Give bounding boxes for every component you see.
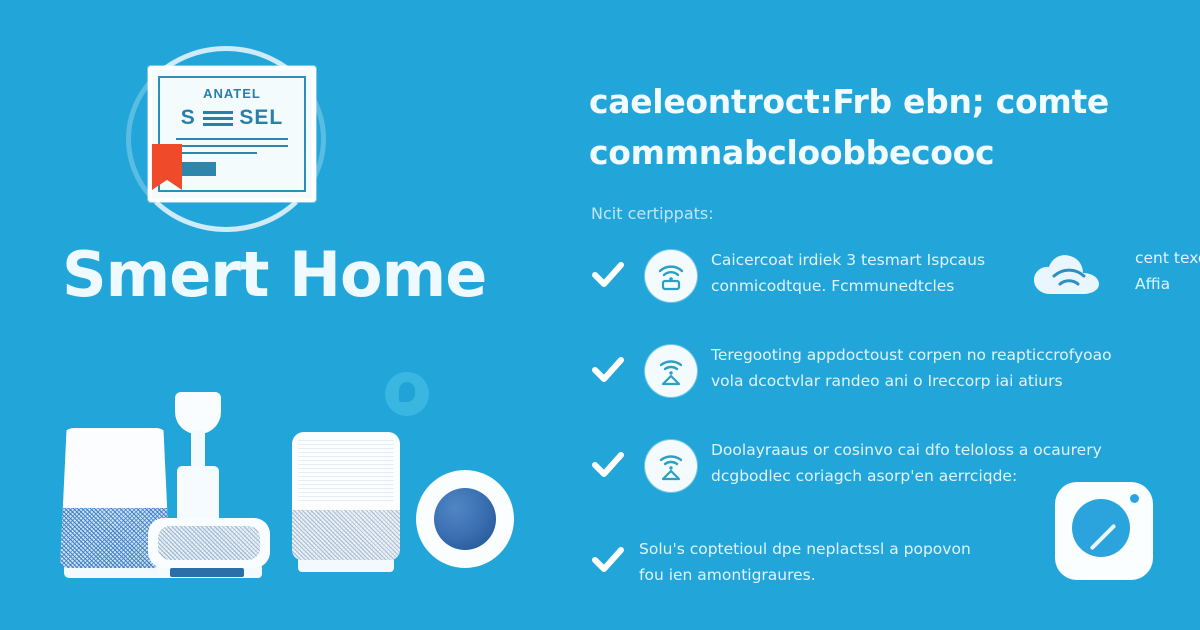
list-item-text: Solu's coptetioul dpe neplactssl a popov… — [639, 537, 1069, 588]
list-item-text-line-2: vola dcoctvlar randeo ani o Ireccorp iai… — [711, 369, 1131, 395]
smart-hub — [148, 518, 270, 568]
wifi-router-icon — [645, 250, 697, 302]
certificate-seal-chip — [178, 162, 216, 176]
square-speaker-mesh — [292, 510, 400, 560]
wifi-device-icon — [645, 440, 697, 492]
check-icon — [591, 258, 625, 292]
check-icon — [591, 353, 625, 387]
check-icon — [591, 448, 625, 482]
list-item-text-line-1: Teregooting appdoctoust corpen no reapti… — [711, 343, 1131, 369]
cloud-label-line-1: cent texots — [1135, 246, 1200, 272]
section-heading-line-1: caeleontroct:Frb ebn; comte — [589, 76, 1189, 127]
smart-lamp-neck — [191, 430, 205, 466]
list-item-text: Doolayraaus or cosinvo cai dfo teloloss … — [711, 438, 1131, 489]
certificate-code-left: S — [181, 106, 196, 129]
certificate-code: S SEL — [152, 106, 312, 130]
hub-mesh — [158, 526, 260, 560]
camera-icon — [1055, 482, 1153, 580]
anatel-certificate-badge: ANATEL S SEL — [118, 44, 338, 234]
certificate-code-right: SEL — [239, 106, 283, 129]
list-item-text: Teregooting appdoctoust corpen no reapti… — [711, 343, 1131, 394]
camera-flash-dot-icon — [1130, 494, 1139, 503]
round-camera-lens — [434, 488, 496, 550]
section-subheading: Ncit certippats: — [591, 204, 714, 223]
poster-canvas: ANATEL S SEL Smert Home — [0, 0, 1200, 630]
list-item: Teregooting appdoctoust corpen no reapti… — [583, 339, 1198, 434]
cloud-label: cent texots Affia — [1135, 246, 1200, 297]
list-item: Caicercoat irdiek 3 tesmart Ispcaus conm… — [583, 244, 1198, 339]
cloud-label-line-2: Affia — [1135, 272, 1200, 298]
certificate-bars-icon — [203, 108, 233, 129]
smart-hub-led — [170, 568, 244, 577]
square-speaker — [292, 432, 400, 560]
page-title: Smert Home — [62, 238, 532, 311]
check-icon — [591, 543, 625, 577]
list-item-text-line-1: Solu's coptetioul dpe neplactssl a popov… — [639, 537, 1069, 563]
cloud-wifi-icon — [1028, 250, 1128, 302]
camera-lens-icon — [1072, 499, 1130, 557]
certificate-text-lines — [176, 138, 288, 159]
left-column: ANATEL S SEL Smert Home — [0, 0, 540, 630]
list-item-text-line-1: Doolayraaus or cosinvo cai dfo teloloss … — [711, 438, 1131, 464]
section-heading: caeleontroct:Frb ebn; comte commnabcloob… — [589, 76, 1189, 178]
wifi-device-icon — [645, 345, 697, 397]
smart-home-devices-illustration — [20, 370, 530, 620]
section-heading-line-2: commnabcloobbecooc — [589, 127, 1189, 178]
location-pin-icon — [385, 372, 429, 416]
square-speaker-lines — [298, 440, 394, 504]
certificate-issuer: ANATEL — [152, 86, 312, 101]
smart-lamp-shade — [175, 392, 221, 434]
list-item-text-line-2: fou ien amontigraures. — [639, 563, 1069, 589]
